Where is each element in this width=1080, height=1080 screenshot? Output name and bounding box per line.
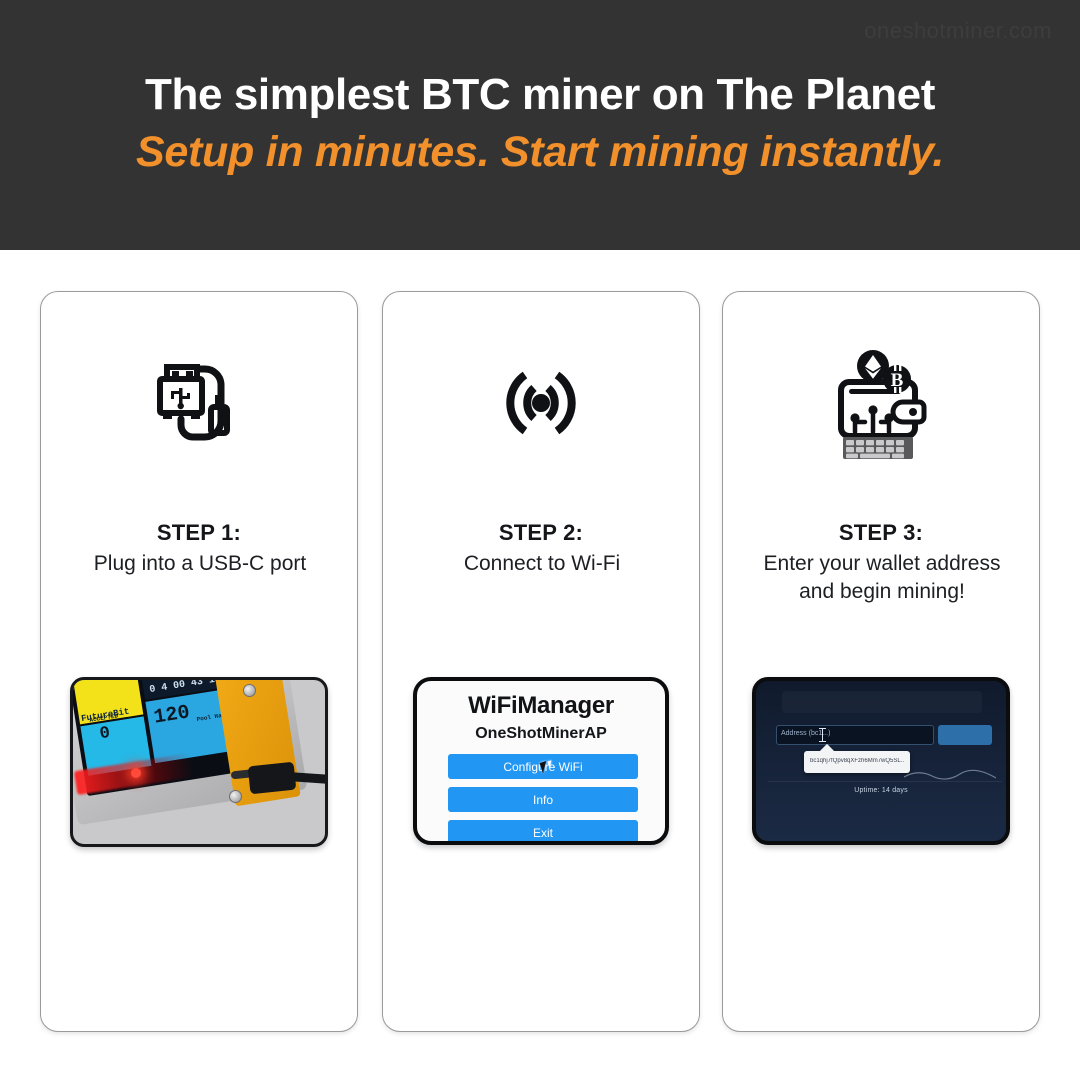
wallet-address-input[interactable]: Address (bc1...)	[776, 725, 934, 745]
exit-button[interactable]: Exit	[448, 820, 638, 845]
step-1-photo-wrap: 0 13 0 4 00 43 13 FutureBit ACCEPTED 0 1…	[41, 677, 357, 857]
step-card-1: STEP 1: Plug into a USB-C port 0 13 0 4 …	[40, 291, 358, 1032]
steps-container: STEP 1: Plug into a USB-C port 0 13 0 4 …	[0, 291, 1080, 1036]
step-1-description: Plug into a USB-C port	[63, 550, 337, 578]
step-card-3: B	[722, 291, 1040, 1032]
wifimanager-screenshot: WiFiManager OneShotMinerAP Configure WiF…	[413, 677, 669, 845]
hero-header: oneshotminer.com The simplest BTC miner …	[0, 0, 1080, 250]
step-3-title: STEP 3:	[723, 520, 1039, 546]
step-1-title: STEP 1:	[41, 520, 357, 546]
step-2-photo-wrap: WiFiManager OneShotMinerAP Configure WiF…	[383, 677, 699, 857]
uptime-text: Uptime: 14 days	[756, 787, 1006, 794]
address-autocomplete-dropdown[interactable]: bc1qhj7fQpv8qXFzh6Mm7wQ5SL...	[804, 751, 910, 773]
save-address-button[interactable]	[938, 725, 992, 745]
wifi-broadcast-icon	[383, 338, 699, 468]
site-watermark: oneshotminer.com	[864, 18, 1052, 44]
usb-cable-icon	[41, 338, 357, 468]
step-3-description: Enter your wallet address and begin mini…	[745, 550, 1019, 606]
miner-device-photo: 0 13 0 4 00 43 13 FutureBit ACCEPTED 0 1…	[70, 677, 328, 847]
step-card-2: STEP 2: Connect to Wi-Fi WiFiManager One…	[382, 291, 700, 1032]
device-screw-bottom	[229, 790, 242, 803]
headline: The simplest BTC miner on The Planet	[0, 70, 1080, 120]
step-2-title: STEP 2:	[383, 520, 699, 546]
dashboard-sparkline	[904, 767, 996, 783]
address-suggestion-item: bc1qhj7fQpv8qXFzh6Mm7wQ5SL...	[810, 758, 904, 764]
miner-dashboard-screenshot: Address (bc1...) bc1qhj7fQpv8qXFzh6Mm7wQ…	[752, 677, 1010, 845]
device-led	[131, 768, 141, 778]
wifimanager-title: WiFiManager	[417, 692, 665, 720]
wallet-address-input-label: Address (bc1...)	[781, 730, 830, 737]
dashboard-header-bar	[782, 691, 982, 713]
subheadline: Setup in minutes. Start mining instantly…	[0, 128, 1080, 177]
svg-text:B: B	[891, 370, 904, 391]
dropdown-pointer	[820, 744, 834, 758]
text-caret-icon	[822, 728, 823, 742]
step-3-photo-wrap: Address (bc1...) bc1qhj7fQpv8qXFzh6Mm7wQ…	[723, 677, 1039, 857]
device-screw-top	[243, 684, 256, 697]
crypto-wallet-keyboard-icon: B	[723, 338, 1039, 468]
step-2-description: Connect to Wi-Fi	[405, 550, 679, 578]
info-button[interactable]: Info	[448, 787, 638, 812]
wifimanager-ap-name: OneShotMinerAP	[417, 725, 665, 743]
